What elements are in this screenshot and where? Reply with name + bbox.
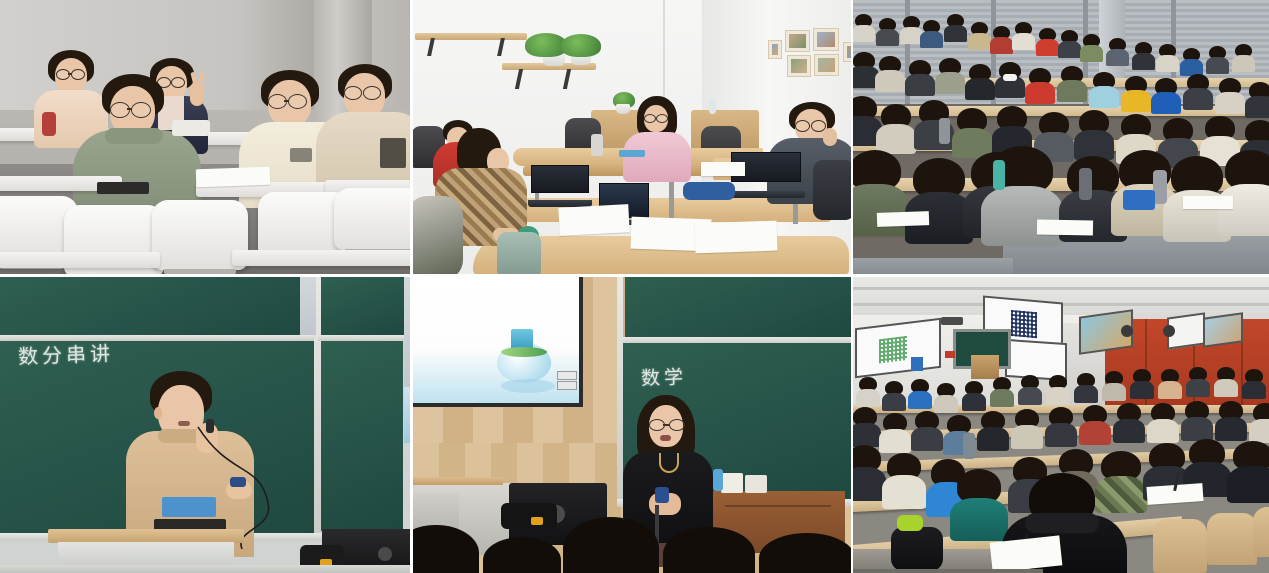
- student: [957, 108, 987, 158]
- hoodie-print: [380, 138, 406, 168]
- student: [1093, 72, 1115, 108]
- slide-sidebar-tab: [557, 371, 577, 380]
- exam-paper: [877, 211, 929, 227]
- slide-qr-green: [879, 336, 907, 363]
- photo-panel-top-left[interactable]: Five students seated at white classroom …: [0, 0, 413, 277]
- student: [1183, 48, 1200, 76]
- torso: [1080, 45, 1102, 62]
- audience-head-silhouette: [663, 527, 755, 573]
- student: [1135, 42, 1152, 70]
- slide-city-graphic: [511, 329, 533, 349]
- torso: [856, 389, 880, 407]
- student: [1217, 367, 1235, 397]
- torso: [1249, 419, 1269, 443]
- student: [981, 411, 1005, 451]
- mouth: [660, 435, 671, 441]
- torso: [911, 427, 943, 451]
- potted-plant: [561, 34, 601, 57]
- seminar-room-scene: [413, 0, 851, 274]
- eyeglasses: [363, 86, 381, 100]
- student: [881, 104, 911, 154]
- ceiling-projector: [941, 317, 963, 325]
- exam-paper: [1037, 220, 1093, 236]
- torso: [1012, 33, 1034, 50]
- student: [1061, 66, 1083, 102]
- student: [1077, 373, 1095, 403]
- eyeglasses: [344, 86, 362, 100]
- projector-screen: [413, 277, 583, 407]
- projection-screen-left: [855, 318, 941, 379]
- photo-panel-bottom-right[interactable]: Tiered lecture theatre seen from the bac…: [853, 277, 1269, 573]
- student: [1039, 28, 1056, 56]
- student: [1235, 44, 1252, 72]
- student: [1125, 76, 1147, 112]
- torso: [1186, 379, 1210, 397]
- student: [879, 18, 896, 46]
- water-bottle: [963, 433, 975, 459]
- torso: [1158, 381, 1182, 399]
- pencil-case: [172, 120, 210, 136]
- torso: [1156, 55, 1178, 72]
- student: [883, 413, 907, 453]
- student: [1161, 369, 1179, 399]
- torso: [968, 33, 990, 50]
- torso: [990, 37, 1012, 54]
- laptop-keyboard: [727, 191, 805, 198]
- hood-collar: [105, 128, 163, 144]
- torso: [935, 72, 964, 94]
- eyeglasses: [795, 120, 810, 132]
- display-panel-far-right: [1203, 312, 1243, 348]
- torso: [853, 423, 881, 447]
- torso: [1217, 184, 1269, 236]
- torso: [1079, 421, 1111, 445]
- torso: [1058, 41, 1080, 58]
- student: [939, 58, 961, 94]
- student: [853, 52, 875, 88]
- torso: [882, 475, 927, 509]
- torso: [879, 429, 911, 453]
- student: [879, 56, 901, 92]
- monitor-brand-badge: [378, 547, 392, 561]
- torso: [950, 498, 1008, 541]
- student-foreground: [1225, 150, 1269, 236]
- student: [923, 20, 940, 48]
- student: [1151, 403, 1175, 443]
- torso: [1045, 423, 1077, 447]
- student: [1105, 371, 1123, 401]
- torso: [853, 184, 909, 236]
- student: [1209, 46, 1226, 74]
- student: [909, 60, 931, 96]
- student: [971, 22, 988, 50]
- student: [887, 453, 921, 509]
- torso: [962, 393, 986, 411]
- student: [1219, 78, 1241, 114]
- window-strip: [300, 277, 316, 335]
- stationery: [619, 150, 645, 157]
- eyeglasses: [669, 419, 685, 431]
- torso: [1130, 381, 1154, 399]
- photo: [772, 44, 778, 55]
- audience-head-silhouette: [563, 517, 659, 573]
- student: [965, 381, 983, 411]
- tiered-lecture-theatre-scene: [853, 277, 1269, 573]
- torso: [1025, 82, 1054, 104]
- slide-reflection: [501, 379, 555, 393]
- eyeglasses: [110, 102, 130, 118]
- torso: [1132, 53, 1154, 70]
- student: [1155, 78, 1177, 114]
- torso: [882, 393, 906, 411]
- slide-green-ring: [501, 347, 547, 357]
- torso: [1151, 92, 1180, 114]
- student: [993, 26, 1010, 54]
- student-right-hoodie: [322, 64, 413, 194]
- laptop-screen: [531, 165, 589, 193]
- audience-head-silhouette: [759, 533, 853, 573]
- lectern: [971, 355, 999, 379]
- water-bottle: [1153, 170, 1167, 204]
- torso: [1113, 419, 1145, 443]
- student: [853, 445, 881, 501]
- water-bottle: [709, 98, 716, 114]
- photo: [817, 32, 835, 47]
- chalk-box: [721, 473, 743, 493]
- presenter-clicker: [655, 487, 669, 503]
- torso: [1046, 387, 1070, 405]
- backpack-dark: [813, 160, 853, 220]
- eyeglasses: [288, 94, 307, 109]
- chalk-box: [745, 475, 767, 493]
- student: [1249, 82, 1269, 118]
- torso: [1057, 80, 1086, 102]
- student: [969, 64, 991, 100]
- student: [885, 381, 903, 411]
- torso: [1245, 96, 1269, 118]
- wall-photo-frame: [768, 40, 782, 59]
- torso: [977, 427, 1009, 451]
- glasses-bridge: [663, 424, 669, 426]
- student: [859, 377, 877, 407]
- glasses-bridge: [284, 100, 289, 102]
- eyeglasses: [131, 102, 151, 118]
- photo-collage: Five students seated at white classroom …: [0, 0, 1269, 573]
- empty-seat: [1153, 519, 1207, 573]
- blackboard-upper: [0, 277, 316, 339]
- student: [937, 383, 955, 413]
- water-bottle: [42, 112, 56, 136]
- blackboard-chalk-text: 数学: [641, 362, 688, 391]
- wall-photo-frame: [814, 54, 839, 76]
- photo-panel-top-center[interactable]: Students studying with laptops around li…: [413, 0, 853, 277]
- open-notebook: [695, 221, 778, 254]
- student: [1049, 375, 1067, 405]
- monitor-arm: [501, 503, 557, 529]
- student: [903, 16, 920, 44]
- exit-sign: [945, 351, 955, 358]
- desk-foreground: [0, 252, 160, 268]
- torso: [876, 29, 898, 46]
- desk-foreground: [232, 250, 413, 266]
- water-bottle: [993, 160, 1005, 190]
- student: [1245, 369, 1263, 399]
- glasses-bridge: [68, 73, 72, 75]
- torso: [965, 78, 994, 100]
- torso: [1036, 39, 1058, 56]
- student: [911, 379, 929, 409]
- open-book: [196, 167, 271, 188]
- chair: [334, 188, 413, 250]
- student: [1185, 401, 1209, 441]
- blackboard-upper: [625, 277, 853, 337]
- student: [1015, 22, 1032, 50]
- photo-panel-bottom-center[interactable]: Female teacher lecturing beside a projec…: [413, 277, 853, 573]
- photo-panel-top-right[interactable]: Packed lecture hall of students writing …: [853, 0, 1269, 277]
- torso: [1227, 466, 1269, 503]
- ear: [154, 407, 162, 419]
- torso: [905, 74, 934, 96]
- lecture-hall-exam-scene: [853, 0, 1269, 274]
- backpack-green-trim: [897, 515, 923, 531]
- wall-photo-frame: [813, 28, 839, 51]
- torso: [875, 70, 904, 92]
- necklace: [659, 453, 679, 473]
- student: [1029, 68, 1051, 104]
- student: [1253, 403, 1269, 443]
- pencil-case: [1123, 190, 1155, 210]
- blackboard-side-lower: [321, 341, 403, 531]
- student-teal-jacket: [957, 469, 1001, 541]
- student: [1049, 407, 1073, 447]
- torso: [981, 186, 1063, 246]
- slide-sidebar-tab: [557, 381, 577, 390]
- ceiling-beam: [853, 287, 1269, 290]
- ceiling-speaker: [1121, 325, 1133, 337]
- glasses-bridge: [127, 108, 132, 110]
- chest-logo: [290, 148, 312, 162]
- photo: [789, 34, 806, 48]
- student: [1133, 369, 1151, 399]
- torso: [1215, 417, 1247, 441]
- torso: [1074, 385, 1098, 403]
- torso: [1215, 92, 1244, 114]
- lectern-shelf: [413, 477, 503, 485]
- papers-stack: [558, 204, 629, 236]
- torso: [1206, 57, 1228, 74]
- classroom-students-scene: [0, 0, 410, 274]
- podium-top: [48, 529, 244, 543]
- student: [1187, 74, 1209, 110]
- empty-seat: [1253, 507, 1269, 557]
- table-leg: [669, 176, 674, 220]
- student-pink-hoodie: [625, 96, 689, 174]
- projector-lecturer-scene: 数学: [413, 277, 851, 573]
- student: [1021, 375, 1039, 405]
- laptop: [531, 165, 589, 207]
- ceiling-speaker: [1163, 325, 1175, 337]
- student: [855, 14, 872, 42]
- backpack-on-floor: [891, 527, 943, 571]
- backpack: [497, 232, 541, 277]
- student: [1219, 401, 1243, 441]
- desk-surface: [0, 565, 413, 573]
- torso: [1089, 86, 1118, 108]
- student: [1159, 44, 1176, 72]
- hood: [1025, 513, 1099, 533]
- aisle-floor: [853, 569, 1043, 573]
- thermos: [591, 134, 603, 156]
- desk-panel-line: [725, 505, 831, 507]
- blackboard-side: [320, 277, 404, 335]
- student: [1083, 405, 1107, 445]
- tablet: [97, 182, 149, 194]
- torso: [1214, 379, 1238, 397]
- empty-seat: [1207, 513, 1257, 565]
- face-mask: [1003, 74, 1017, 81]
- student: [1233, 441, 1269, 503]
- student: [1079, 110, 1109, 160]
- torso: [1102, 383, 1126, 401]
- winter-coat-foreground: [413, 196, 463, 277]
- water-bottle: [1079, 168, 1092, 200]
- photo-panel-bottom-left[interactable]: Male student lecturer speaking in front …: [0, 277, 413, 573]
- torso: [853, 25, 875, 42]
- microphone-cable: [190, 417, 320, 547]
- exam-paper: [1183, 196, 1233, 209]
- student: [915, 411, 939, 451]
- student: [1109, 38, 1126, 66]
- wall-photo-frame: [785, 30, 810, 52]
- torso: [1121, 90, 1150, 112]
- wall-photo-frame: [843, 42, 853, 62]
- torso: [1011, 425, 1043, 449]
- torso: [990, 389, 1014, 407]
- student: [1117, 403, 1141, 443]
- blackboard-rail-right: [318, 335, 406, 341]
- blackboard-left-edge: [617, 277, 623, 505]
- torso: [944, 25, 966, 42]
- student: [947, 14, 964, 42]
- blackboard-lecturer-scene: 数分串讲 ACE PIERRE: [0, 277, 410, 573]
- torso: [1181, 417, 1213, 441]
- water-bottle: [713, 469, 723, 491]
- torso: [1232, 55, 1254, 72]
- blackboard-chalk-text: 数分串讲: [18, 337, 115, 369]
- student-foreground: [913, 158, 965, 244]
- student: [853, 96, 877, 146]
- torso: [920, 31, 942, 48]
- torso: [1106, 49, 1128, 66]
- student: [1015, 409, 1039, 449]
- student: [993, 377, 1011, 407]
- hand-on-cheek: [823, 128, 837, 146]
- student: [1083, 34, 1100, 62]
- desk-front-panel: [853, 258, 1013, 277]
- wall-photo-frame: [787, 55, 811, 77]
- window-right: [404, 277, 413, 397]
- slide-qr-code: [1011, 310, 1037, 338]
- torso: [908, 391, 932, 409]
- photo: [818, 58, 835, 72]
- projector-screen-edge: [404, 387, 413, 443]
- student: [1189, 367, 1207, 397]
- bag-blue: [683, 182, 735, 200]
- torso: [1242, 381, 1266, 399]
- torso: [623, 132, 691, 182]
- mouth: [178, 421, 190, 426]
- torso: [1183, 88, 1212, 110]
- torso: [1018, 387, 1042, 405]
- eyeglasses: [644, 114, 656, 123]
- equipment-marker: [531, 517, 543, 525]
- papers-stack: [701, 162, 745, 176]
- photo: [791, 59, 807, 73]
- torso: [1147, 419, 1179, 443]
- water-bottle: [939, 118, 950, 144]
- blue-panel: [911, 357, 923, 371]
- eyeglasses: [656, 114, 668, 123]
- student: [1061, 30, 1078, 58]
- student: [853, 407, 877, 447]
- student-masked: [999, 62, 1021, 98]
